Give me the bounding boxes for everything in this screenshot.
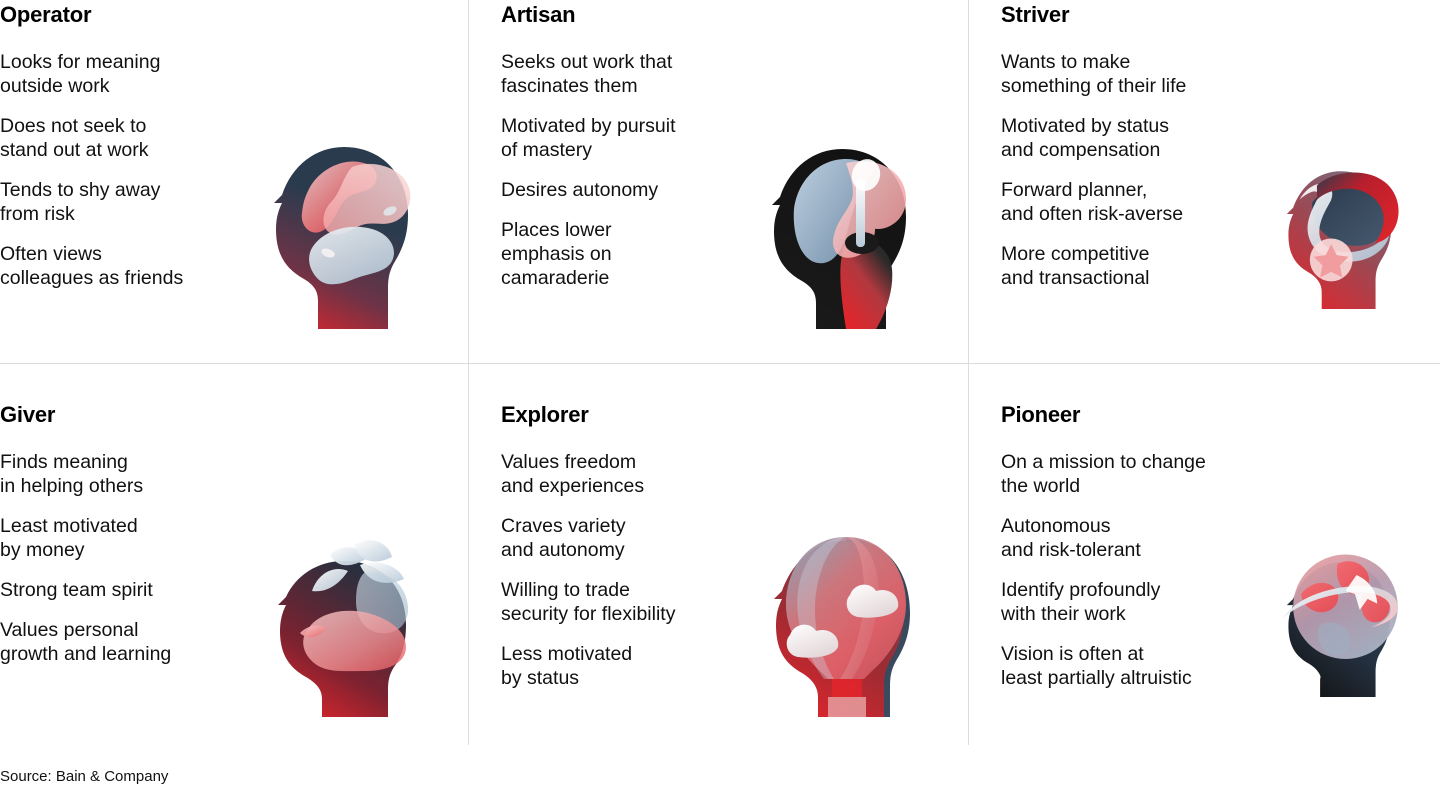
page-title: Striver [1001, 2, 1271, 28]
list-item: More competitive and transactional [1001, 242, 1271, 290]
list-item: Motivated by status and compensation [1001, 114, 1271, 162]
page-title: Pioneer [1001, 402, 1271, 428]
persona-illustration-pioneer [1271, 400, 1412, 745]
persona-panel-striver: Striver Wants to make something of their… [968, 0, 1440, 364]
persona-bullets-striver: Wants to make something of their life Mo… [1001, 50, 1271, 290]
persona-panel-operator: Operator Looks for meaning outside work … [0, 0, 468, 364]
persona-illustration-giver [250, 400, 440, 745]
head-tool-icon [754, 133, 932, 333]
list-item: Least motivated by money [0, 514, 250, 562]
list-item: Finds meaning in helping others [0, 450, 250, 498]
persona-bullets-explorer: Values freedom and experiences Craves va… [501, 450, 746, 690]
source-note: Source: Bain & Company [0, 768, 168, 786]
list-item: On a mission to change the world [1001, 450, 1271, 498]
page-title: Explorer [501, 402, 746, 428]
persona-text-explorer: Explorer Values freedom and experiences … [501, 400, 746, 690]
persona-panel-artisan: Artisan Seeks out work that fascinates t… [468, 0, 968, 364]
persona-panel-pioneer: Pioneer On a mission to change the world… [968, 364, 1440, 745]
list-item: Does not seek to stand out at work [0, 114, 250, 162]
list-item: Places lower emphasis on camaraderie [501, 218, 746, 290]
persona-illustration-explorer [746, 400, 940, 745]
persona-panel-giver: Giver Finds meaning in helping others Le… [0, 364, 468, 745]
list-item: Autonomous and risk-tolerant [1001, 514, 1271, 562]
persona-illustration-operator [250, 0, 440, 363]
head-globe-orbit-icon [1271, 521, 1412, 721]
persona-bullets-operator: Looks for meaning outside work Does not … [0, 50, 250, 290]
list-item: Willing to trade security for flexibilit… [501, 578, 746, 626]
persona-illustration-striver [1271, 0, 1412, 363]
list-item: Craves variety and autonomy [501, 514, 746, 562]
persona-grid: Operator Looks for meaning outside work … [0, 0, 1440, 745]
persona-text-artisan: Artisan Seeks out work that fascinates t… [501, 0, 746, 290]
list-item: Desires autonomy [501, 178, 746, 202]
list-item: Seeks out work that fascinates them [501, 50, 746, 98]
persona-bullets-giver: Finds meaning in helping others Least mo… [0, 450, 250, 666]
head-hands-icon [256, 133, 434, 333]
page-title: Operator [0, 2, 250, 28]
list-item: Identify profoundly with their work [1001, 578, 1271, 626]
list-item: Often views colleagues as friends [0, 242, 250, 290]
persona-panel-explorer: Explorer Values freedom and experiences … [468, 364, 968, 745]
persona-text-striver: Striver Wants to make something of their… [1001, 0, 1271, 290]
head-leaves-icon [256, 521, 434, 721]
list-item: Forward planner, and often risk-averse [1001, 178, 1271, 226]
persona-illustration-artisan [746, 0, 940, 363]
list-item: Less motivated by status [501, 642, 746, 690]
head-balloon-clouds-icon [754, 521, 932, 721]
list-item: Strong team spirit [0, 578, 250, 602]
list-item: Motivated by pursuit of mastery [501, 114, 746, 162]
list-item: Looks for meaning outside work [0, 50, 250, 98]
page-title: Giver [0, 402, 250, 428]
persona-text-pioneer: Pioneer On a mission to change the world… [1001, 400, 1271, 690]
list-item: Wants to make something of their life [1001, 50, 1271, 98]
page-title: Artisan [501, 2, 746, 28]
list-item: Values personal growth and learning [0, 618, 250, 666]
list-item: Vision is often at least partially altru… [1001, 642, 1271, 690]
persona-bullets-artisan: Seeks out work that fascinates them Moti… [501, 50, 746, 290]
persona-text-operator: Operator Looks for meaning outside work … [0, 0, 250, 290]
list-item: Values freedom and experiences [501, 450, 746, 498]
persona-text-giver: Giver Finds meaning in helping others Le… [0, 400, 250, 666]
list-item: Tends to shy away from risk [0, 178, 250, 226]
head-star-icon [1271, 133, 1412, 333]
persona-bullets-pioneer: On a mission to change the world Autonom… [1001, 450, 1271, 690]
